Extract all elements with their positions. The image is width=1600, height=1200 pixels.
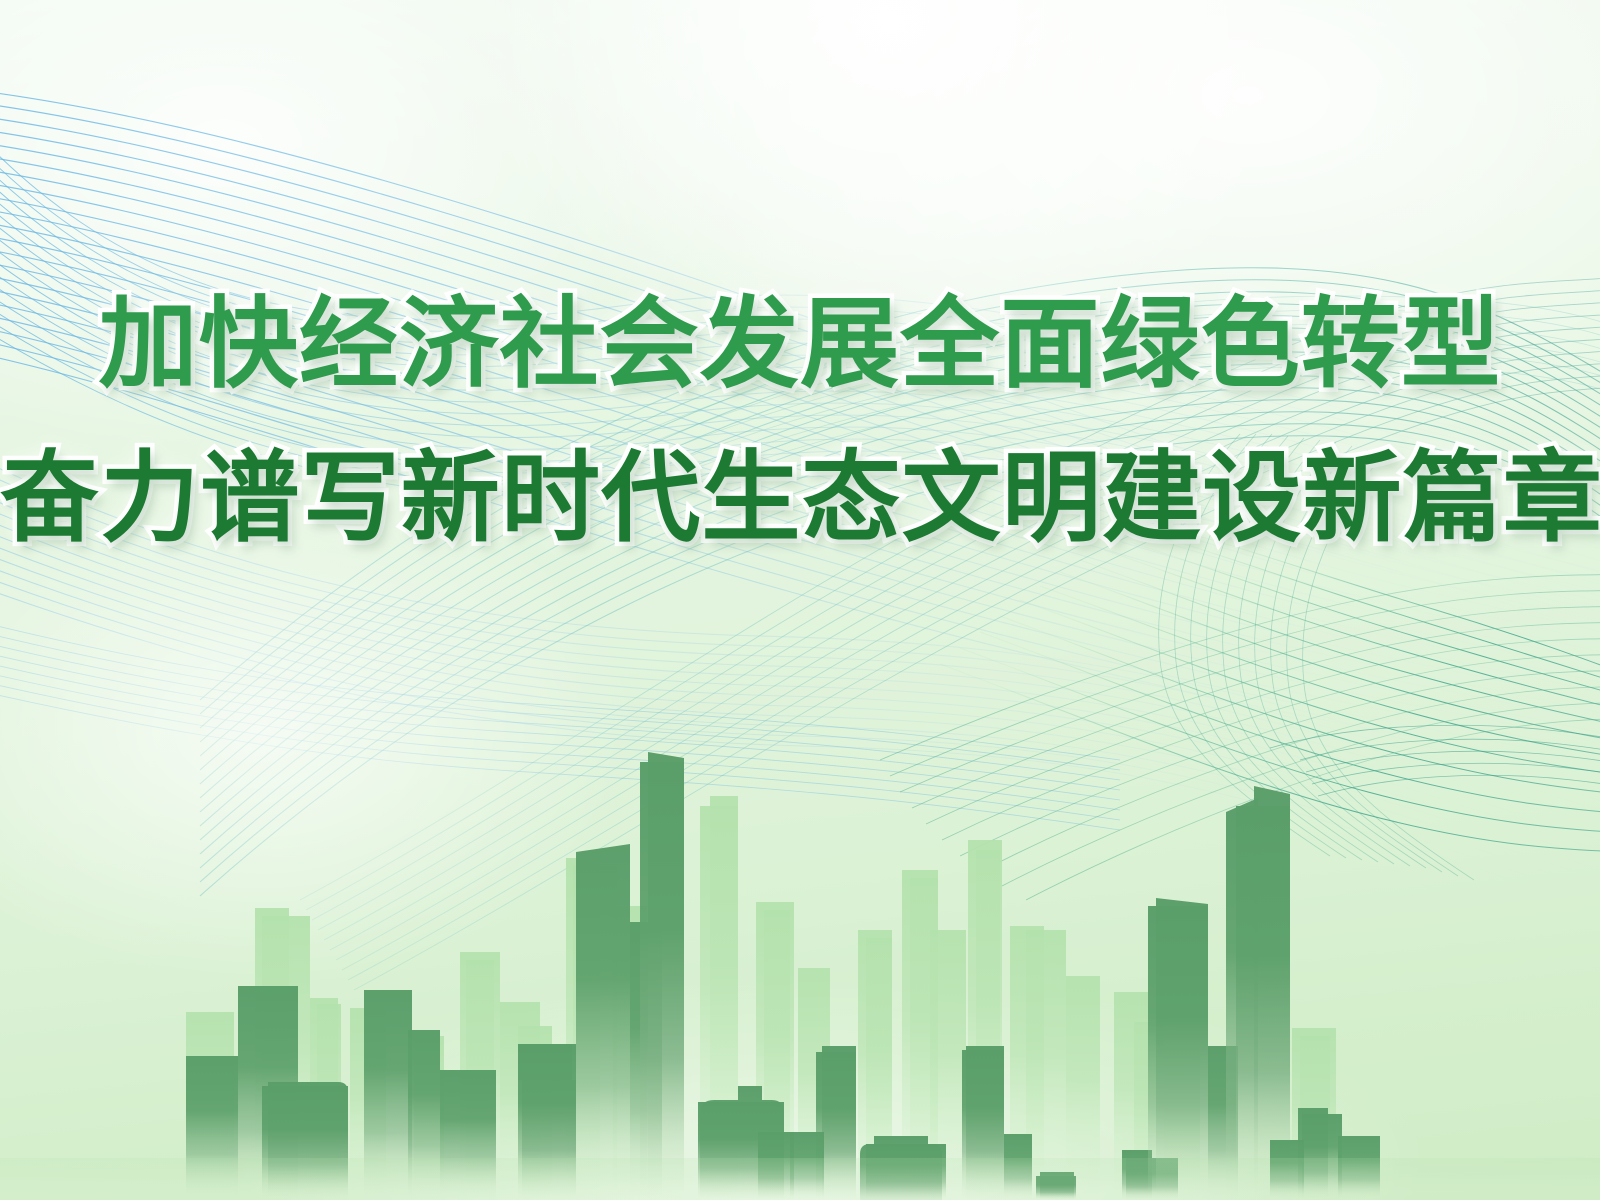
mesh-green-right bbox=[0, 0, 1600, 1200]
skyline-back-layer bbox=[186, 796, 1336, 1200]
city-skyline bbox=[0, 740, 1600, 1200]
poster-canvas: 加快经济社会发展全面绿色转型 奋力谱写新时代生态文明建设新篇章 bbox=[0, 0, 1600, 1200]
headline-block: 加快经济社会发展全面绿色转型 奋力谱写新时代生态文明建设新篇章 bbox=[0, 286, 1600, 558]
page-title-line-1: 加快经济社会发展全面绿色转型 bbox=[0, 286, 1600, 404]
skyline-front-layer bbox=[186, 752, 1380, 1200]
mesh-blue-top-left bbox=[0, 0, 1600, 1200]
page-title-line-2: 奋力谱写新时代生态文明建设新篇章 bbox=[0, 440, 1600, 558]
mesh-teal-center bbox=[0, 0, 1600, 1200]
glow-bottom bbox=[220, 980, 1420, 1200]
